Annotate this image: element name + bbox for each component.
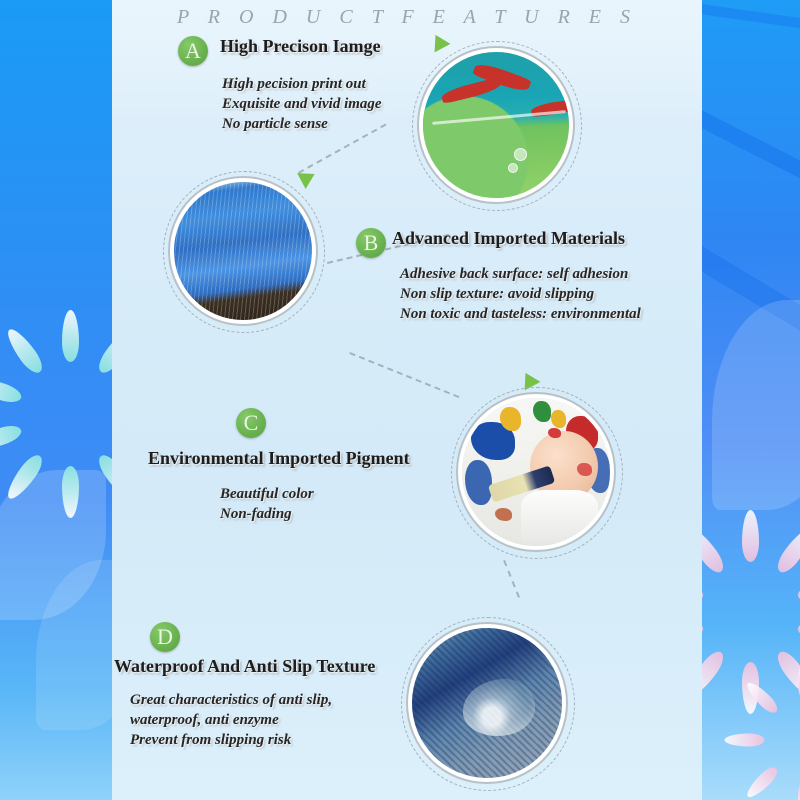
water-droplet bbox=[463, 679, 535, 736]
diagonal-band bbox=[702, 90, 800, 213]
bullet-line: Exquisite and vivid image bbox=[222, 94, 382, 114]
product-features-infographic: P R O D U C T F E A T U R E S bbox=[0, 0, 800, 800]
feature-heading-d: Waterproof And Anti Slip Texture bbox=[114, 656, 375, 677]
feature-bullets-a: High pecision print out Exquisite and vi… bbox=[222, 74, 382, 134]
bullet-line: Great characteristics of anti slip, bbox=[130, 690, 332, 710]
bullet-line: Non toxic and tasteless: environmental bbox=[400, 304, 641, 324]
left-decorative-border bbox=[0, 0, 112, 800]
feature-image-a bbox=[423, 52, 569, 198]
feature-badge-c: C bbox=[236, 408, 266, 438]
feature-image-d bbox=[412, 628, 562, 778]
connector-c-d bbox=[349, 352, 459, 398]
bullet-line: Non-fading bbox=[220, 504, 314, 524]
right-decorative-border bbox=[702, 0, 800, 800]
feature-heading-a: High Precison Iamge bbox=[220, 36, 381, 57]
page-title: P R O D U C T F E A T U R E S bbox=[112, 6, 702, 29]
bullet-line: Prevent from slipping risk bbox=[130, 730, 332, 750]
water-droplet-texture-photo bbox=[412, 628, 562, 778]
feature-badge-a: A bbox=[178, 36, 208, 66]
bullet-line: Adhesive back surface: self adhesion bbox=[400, 264, 641, 284]
baby-body bbox=[521, 490, 598, 543]
bullet-line: No particle sense bbox=[222, 114, 382, 134]
feature-image-b bbox=[174, 182, 312, 320]
koi-fish-print-photo bbox=[423, 52, 569, 198]
feature-bullets-d: Great characteristics of anti slip, wate… bbox=[130, 690, 332, 750]
bullet-line: High pecision print out bbox=[222, 74, 382, 94]
bullet-line: Beautiful color bbox=[220, 484, 314, 504]
feature-heading-b: Advanced Imported Materials bbox=[392, 228, 625, 249]
bullet-line: waterproof, anti enzyme bbox=[130, 710, 332, 730]
feature-badge-d: D bbox=[150, 622, 180, 652]
connector-d-end bbox=[503, 560, 520, 598]
feature-image-c bbox=[462, 398, 610, 546]
feature-badge-b: B bbox=[356, 228, 386, 258]
blue-fabric-roll-photo bbox=[174, 182, 312, 320]
bullet-line: Non slip texture: avoid slipping bbox=[400, 284, 641, 304]
feature-heading-c: Environmental Imported Pigment bbox=[148, 448, 410, 469]
content-panel: P R O D U C T F E A T U R E S bbox=[112, 0, 702, 800]
diagonal-band bbox=[702, 0, 800, 46]
baby-with-paint-photo bbox=[462, 398, 610, 546]
ghost-leaf-shape bbox=[712, 300, 800, 510]
feature-bullets-b: Adhesive back surface: self adhesion Non… bbox=[400, 264, 641, 324]
feature-bullets-c: Beautiful color Non-fading bbox=[220, 484, 314, 524]
